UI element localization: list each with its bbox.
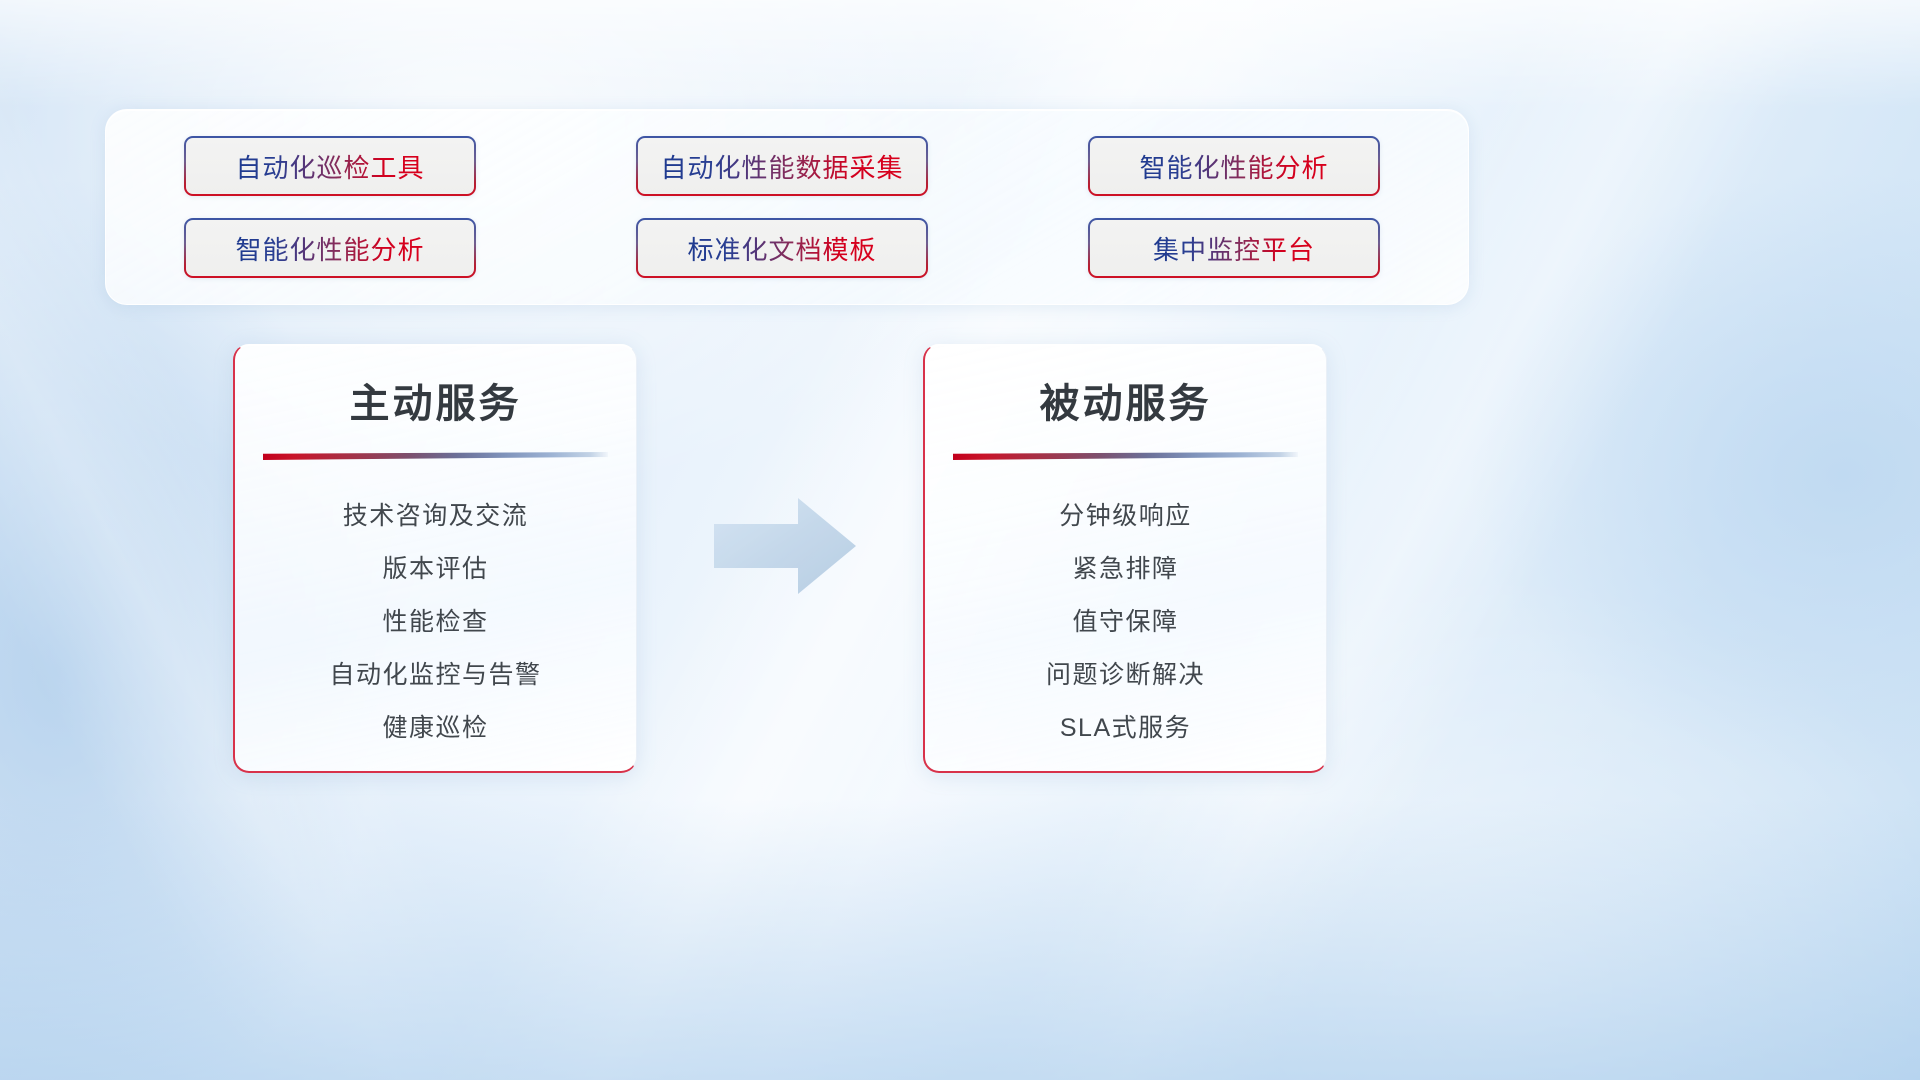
service-item-list: 分钟级响应 紧急排障 值守保障 问题诊断解决 SLA式服务 (925, 490, 1326, 755)
pill-surface: 智能化性能分析 (1090, 138, 1378, 194)
service-list-item: 紧急排障 (925, 543, 1326, 596)
card-title: 主动服务 (235, 371, 636, 429)
service-list-item: 性能检查 (235, 596, 636, 649)
capability-pill-label: 智能化性能分析 (1139, 148, 1328, 185)
service-list-item: SLA式服务 (925, 702, 1326, 755)
service-item-list: 技术咨询及交流 版本评估 性能检查 自动化监控与告警 健康巡检 (235, 490, 636, 755)
capability-pill-label: 自动化性能数据采集 (660, 148, 903, 185)
service-card-proactive: 主动服务 技术咨询及交流 版本评估 性能检查 自动化监控与告警 健康巡检 (233, 344, 637, 773)
capability-pill-5[interactable]: 集中监控平台 (1088, 218, 1380, 278)
pill-surface: 自动化巡检工具 (186, 138, 474, 194)
service-list-item: 问题诊断解决 (925, 649, 1326, 702)
card-title-divider (953, 452, 1298, 460)
capability-pill-0[interactable]: 自动化巡检工具 (184, 136, 476, 196)
service-list-item: 技术咨询及交流 (235, 490, 636, 543)
capability-pill-1[interactable]: 自动化性能数据采集 (636, 136, 928, 196)
pill-surface: 自动化性能数据采集 (638, 138, 926, 194)
slide-canvas: 自动化巡检工具 自动化性能数据采集 智能化性能分析 智能化性能分析 (0, 0, 1920, 1080)
capability-pill-label: 智能化性能分析 (235, 230, 424, 267)
divider-wedge (263, 452, 608, 460)
divider-wedge (953, 452, 1298, 460)
capability-panel: 自动化巡检工具 自动化性能数据采集 智能化性能分析 智能化性能分析 (105, 109, 1469, 305)
capability-pill-3[interactable]: 智能化性能分析 (184, 218, 476, 278)
service-list-item: 值守保障 (925, 596, 1326, 649)
service-card-reactive: 被动服务 分钟级响应 紧急排障 值守保障 问题诊断解决 SLA式服务 (923, 344, 1327, 773)
service-list-item: 健康巡检 (235, 702, 636, 755)
service-list-item: 自动化监控与告警 (235, 649, 636, 702)
pill-surface: 标准化文档模板 (638, 220, 926, 276)
card-title-divider (263, 452, 608, 460)
capability-pill-2[interactable]: 智能化性能分析 (1088, 136, 1380, 196)
capability-pill-label: 标准化文档模板 (687, 230, 876, 267)
capability-pill-grid: 自动化巡检工具 自动化性能数据采集 智能化性能分析 智能化性能分析 (184, 136, 1392, 278)
service-list-item: 版本评估 (235, 543, 636, 596)
card-title: 被动服务 (925, 371, 1326, 429)
capability-pill-label: 自动化巡检工具 (235, 148, 424, 185)
capability-pill-4[interactable]: 标准化文档模板 (636, 218, 928, 278)
capability-pill-label: 集中监控平台 (1153, 230, 1315, 267)
service-list-item: 分钟级响应 (925, 490, 1326, 543)
pill-surface: 智能化性能分析 (186, 220, 474, 276)
pill-surface: 集中监控平台 (1090, 220, 1378, 276)
arrow-right-icon (712, 496, 858, 596)
